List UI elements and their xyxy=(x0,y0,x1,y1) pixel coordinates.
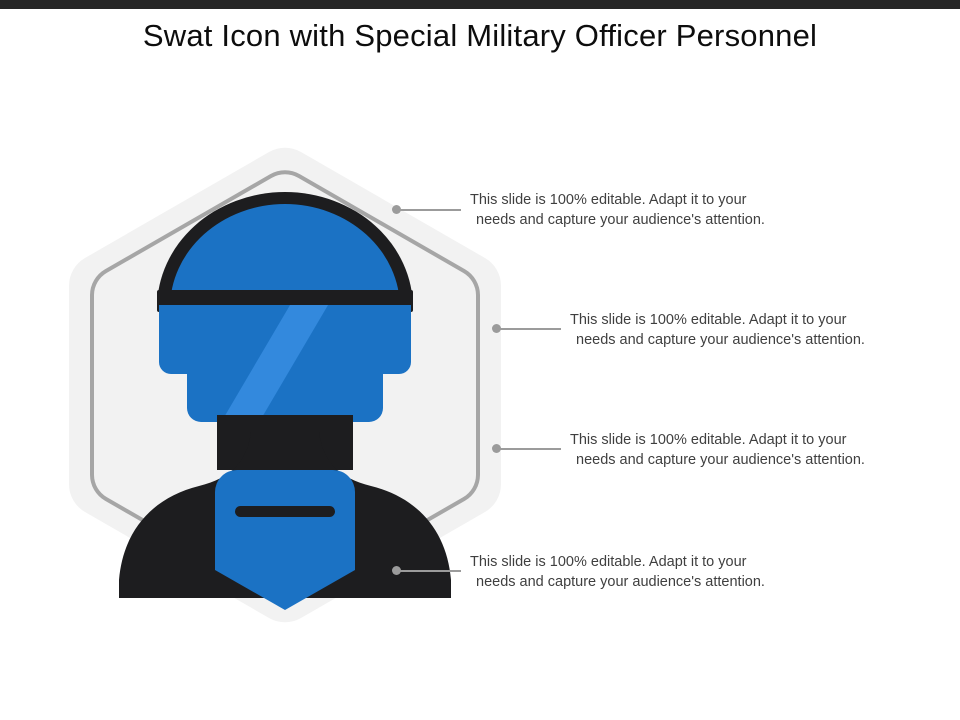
callout-1-line-1: This slide is 100% editable. Adapt it to… xyxy=(470,190,800,210)
slide-canvas: Swat Icon with Special Military Officer … xyxy=(0,0,960,720)
callout-text-3: This slide is 100% editable. Adapt it to… xyxy=(570,430,900,470)
callout-text-4: This slide is 100% editable. Adapt it to… xyxy=(470,552,800,592)
connector-4 xyxy=(392,566,467,575)
top-accent-bar xyxy=(0,0,960,9)
connector-line-2 xyxy=(499,328,561,330)
callout-3-line-2: needs and capture your audience's attent… xyxy=(570,450,900,470)
callout-3-line-1: This slide is 100% editable. Adapt it to… xyxy=(570,430,900,450)
connector-1 xyxy=(392,205,467,214)
connector-line-1 xyxy=(399,209,461,211)
callout-2-line-2: needs and capture your audience's attent… xyxy=(570,330,900,350)
vest-bar xyxy=(235,506,335,517)
page-title: Swat Icon with Special Military Officer … xyxy=(0,18,960,54)
callout-1-line-2: needs and capture your audience's attent… xyxy=(470,210,800,230)
callout-2-line-1: This slide is 100% editable. Adapt it to… xyxy=(570,310,900,330)
callout-4-line-1: This slide is 100% editable. Adapt it to… xyxy=(470,552,800,572)
connector-line-4 xyxy=(399,570,461,572)
callout-text-1: This slide is 100% editable. Adapt it to… xyxy=(470,190,800,230)
connector-3 xyxy=(492,444,567,453)
connector-2 xyxy=(492,324,567,333)
callout-4-line-2: needs and capture your audience's attent… xyxy=(470,572,800,592)
connector-line-3 xyxy=(499,448,561,450)
callout-text-2: This slide is 100% editable. Adapt it to… xyxy=(570,310,900,350)
